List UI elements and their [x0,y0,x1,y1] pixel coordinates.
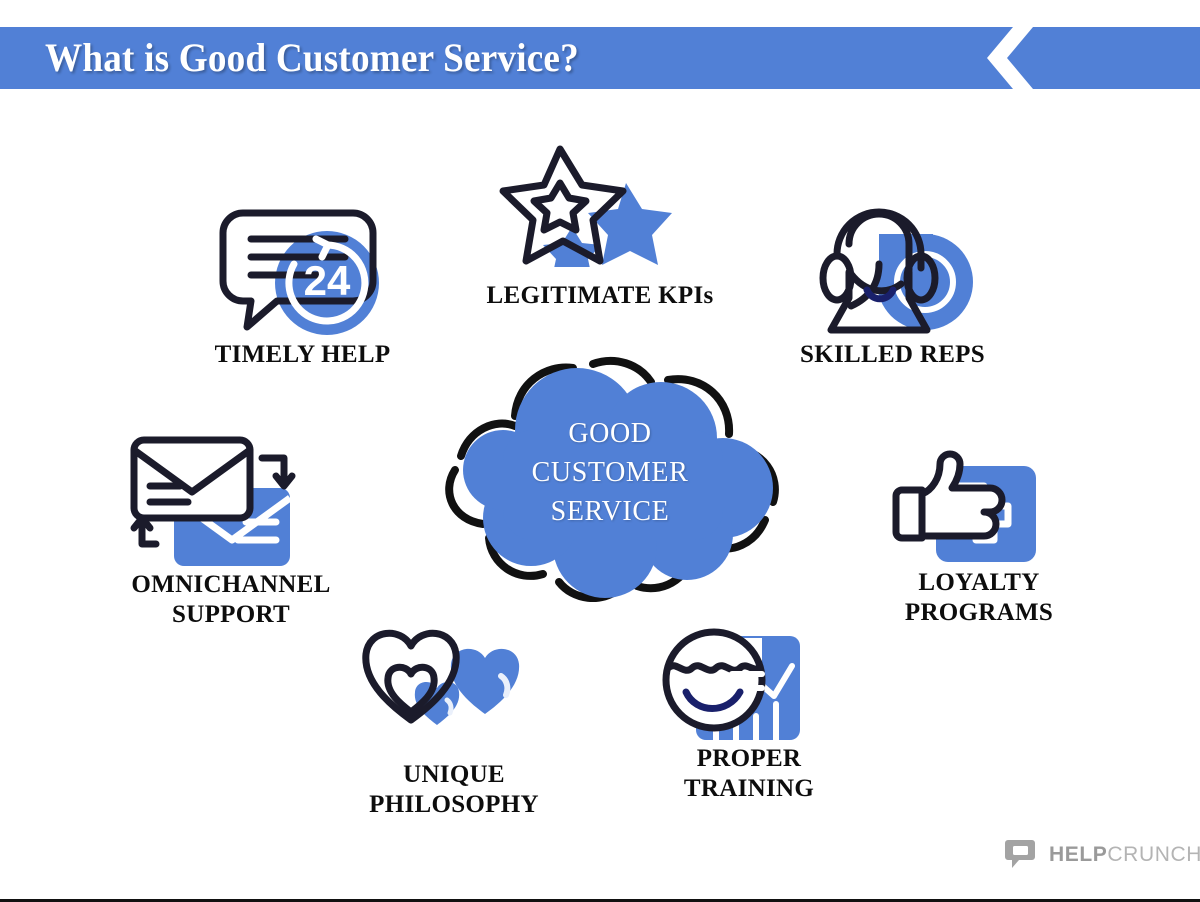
center-cloud: GOOD CUSTOMER SERVICE [425,338,795,608]
brand-logo: HELPCRUNCH [1005,838,1200,872]
slide-canvas: What is Good Customer Service? [0,0,1200,902]
node-label: OMNICHANNEL SUPPORT [112,570,350,630]
page-title: What is Good Customer Service? [45,29,579,87]
stars-icon [480,145,720,267]
node-label: PROPER TRAINING [630,744,868,804]
node-proper-training[interactable]: PROPER TRAINING [630,618,868,804]
speech-bubble-24-clock-icon: 24 [185,195,420,340]
thumbs-up-plus-card-icon [860,428,1098,568]
node-timely-help[interactable]: 24 TIMELY HELP [185,195,420,370]
two-envelopes-icon [112,430,350,570]
brand-name-bold: HELP [1049,843,1107,866]
brand-wordmark: HELPCRUNCH [1049,843,1200,867]
node-label: LOYALTY PROGRAMS [860,568,1098,628]
brand-name-light: CRUNCH [1107,843,1200,866]
svg-text:24: 24 [304,257,351,304]
node-label: TIMELY HELP [185,340,420,370]
center-cloud-label: GOOD CUSTOMER SERVICE [425,414,795,531]
node-loyalty-programs[interactable]: LOYALTY PROGRAMS [860,428,1098,628]
node-unique-philosophy[interactable]: UNIQUE PHILOSOPHY [335,622,573,820]
headset-agent-icon [775,192,1010,340]
node-label: UNIQUE PHILOSOPHY [335,760,573,820]
node-label: LEGITIMATE KPIs [480,281,720,311]
chat-bubble-icon [1005,838,1039,872]
hearts-icon [335,622,573,744]
node-label: SKILLED REPS [775,340,1010,370]
node-skilled-reps[interactable]: SKILLED REPS [775,192,1010,370]
node-legitimate-kpis[interactable]: LEGITIMATE KPIs [480,145,720,311]
smiley-chart-icon [630,618,868,744]
node-omnichannel-support[interactable]: OMNICHANNEL SUPPORT [112,430,350,630]
